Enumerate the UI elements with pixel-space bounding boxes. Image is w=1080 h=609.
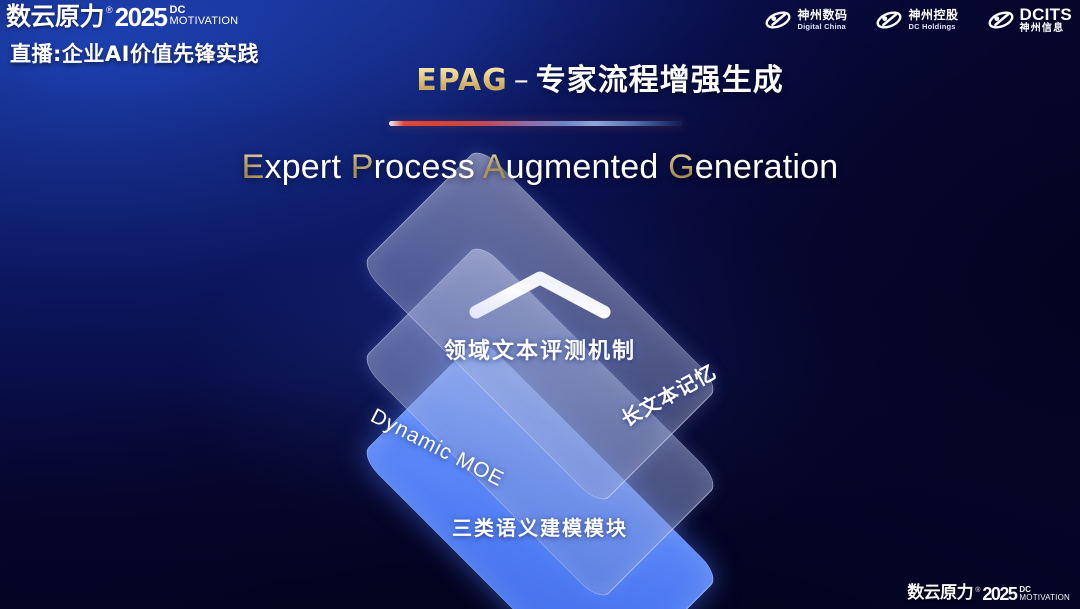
stack-label-top: 领域文本评测机制	[444, 333, 636, 365]
headline-rest-expert: xpert	[265, 148, 342, 186]
partner-label-group: 神州控股 DC Holdings	[908, 9, 958, 31]
swoosh-icon	[987, 9, 1015, 31]
brand-logo-cn: 数云原力	[6, 4, 104, 29]
partner-logo-dcits: DCITS 神州信息	[987, 6, 1073, 34]
footer-logo-registered-mark: ®	[975, 587, 980, 594]
footer-brand-logo: 数云原力 ® 2025 DC MOTIVATION	[907, 585, 1070, 603]
headline-expert-process-augmented-generation: Expert Process Augmented Generation	[0, 148, 1080, 187]
livestream-subtitle: 直播:企业AI价值先锋实践	[10, 38, 259, 68]
footer-logo-cn: 数云原力	[907, 585, 973, 602]
footer-logo-motivation: MOTIVATION	[1019, 594, 1070, 602]
partner-logo-digital-china: 神州数码 Digital China	[764, 9, 847, 31]
partner-name-en: DCITS	[1020, 6, 1073, 23]
headline-cap-a: A	[483, 148, 506, 186]
partner-name-en: DC Holdings	[908, 23, 958, 31]
partner-logo-bar: 神州数码 Digital China 神州控股 DC Holdings	[764, 6, 1072, 34]
headline-cap-e: E	[242, 148, 265, 186]
partner-logo-dc-holdings: 神州控股 DC Holdings	[875, 9, 958, 31]
footer-logo-year: 2025	[982, 585, 1016, 603]
partner-name-en: Digital China	[797, 23, 847, 31]
footer-logo-dc-motivation: DC MOTIVATION	[1019, 586, 1070, 602]
headline-cap-p: P	[351, 148, 374, 186]
brand-logo-dc-motivation: DC MOTIVATION	[170, 5, 239, 27]
header-brand-block: 数云原力 ® 2025 DC MOTIVATION 直播:企业AI价值先锋实践	[6, 4, 259, 68]
partner-name-cn: 神州控股	[908, 9, 958, 22]
headline-rest-process: rocess	[374, 148, 475, 186]
brand-logo-registered-mark: ®	[106, 6, 113, 15]
brand-logo-motivation: MOTIVATION	[170, 16, 239, 27]
chevron-up-icon	[466, 268, 614, 320]
brand-logo-year: 2025	[115, 4, 167, 30]
headline-word-expert: Expert	[242, 148, 341, 186]
stack-label-bottom: 三类语义建模模块	[452, 512, 628, 541]
headline-word-augmented: Augmented	[483, 148, 659, 186]
headline-word-generation: Generation	[668, 148, 838, 186]
title-chinese: 专家流程增强生成	[536, 63, 784, 98]
swoosh-icon	[764, 9, 792, 31]
swoosh-icon	[875, 9, 903, 31]
title-separator: –	[514, 63, 530, 98]
brand-logo: 数云原力 ® 2025 DC MOTIVATION	[6, 4, 259, 30]
partner-label-group: 神州数码 Digital China	[797, 9, 847, 31]
headline-word-process: Process	[351, 148, 475, 186]
headline-rest-augmented: ugmented	[506, 148, 659, 186]
slide-canvas: 数云原力 ® 2025 DC MOTIVATION 直播:企业AI价值先锋实践 …	[0, 0, 1080, 609]
headline-cap-g: G	[668, 148, 695, 186]
partner-name-cn: 神州信息	[1020, 23, 1073, 34]
title-divider	[389, 121, 683, 126]
headline-rest-generation: eneration	[695, 148, 839, 186]
partner-label-group: DCITS 神州信息	[1020, 6, 1073, 34]
partner-name-cn: 神州数码	[797, 9, 847, 22]
title-acronym: EPAG	[416, 63, 508, 98]
